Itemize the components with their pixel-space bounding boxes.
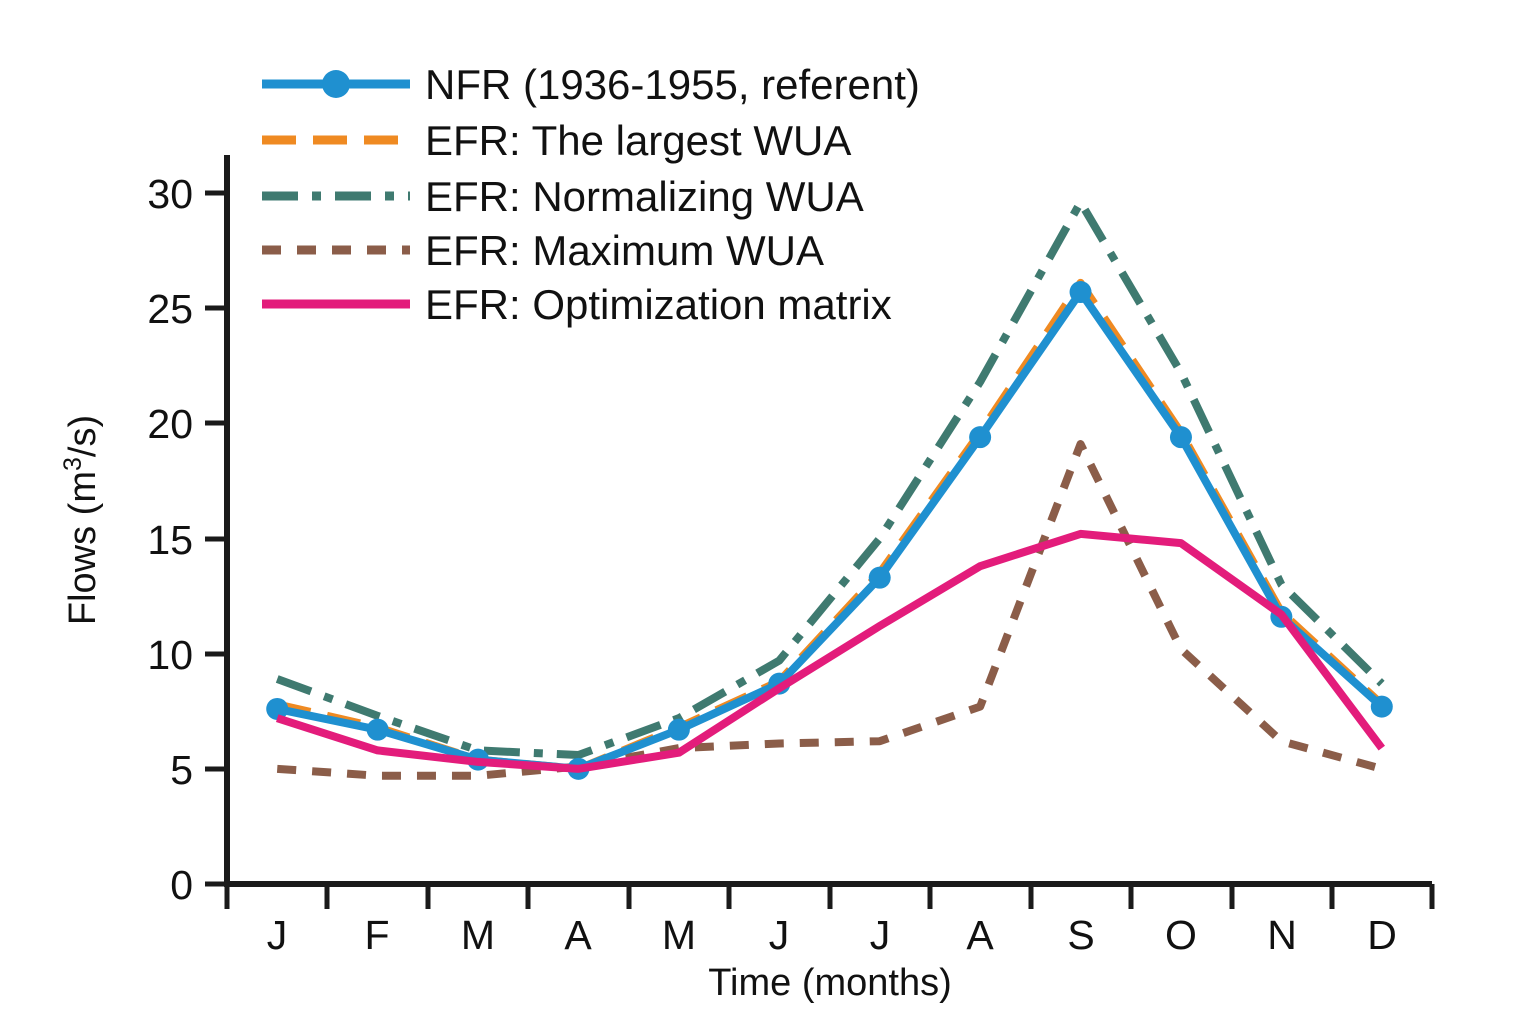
line-chart-svg: NFR (1936-1955, referent) EFR: The large… xyxy=(0,0,1528,1032)
legend-label-3: EFR: Maximum WUA xyxy=(425,227,824,274)
x-tick-label-apr: A xyxy=(564,912,592,958)
x-axis-ticks xyxy=(227,884,1432,909)
legend-item-2[interactable]: EFR: Normalizing WUA xyxy=(262,173,864,220)
legend-item-1[interactable]: EFR: The largest WUA xyxy=(262,117,851,164)
y-axis-title-main: Flows (m xyxy=(62,471,104,625)
x-tick-label-mar: M xyxy=(461,912,495,958)
y-tick-label-15: 15 xyxy=(147,517,193,563)
legend-item-3[interactable]: EFR: Maximum WUA xyxy=(262,227,824,274)
y-tick-label-25: 25 xyxy=(147,286,193,332)
series-0 xyxy=(266,281,1393,780)
legend-label-2: EFR: Normalizing WUA xyxy=(425,173,864,220)
series-marker xyxy=(969,426,991,448)
y-axis-title-superscript: 3 xyxy=(59,457,87,471)
x-axis-labels: J F M A M J J A S O N D xyxy=(267,912,1397,958)
y-axis-ticks xyxy=(205,193,227,884)
legend-label-4: EFR: Optimization matrix xyxy=(425,281,892,328)
x-tick-label-oct: O xyxy=(1165,912,1197,958)
series-line xyxy=(277,534,1382,769)
series-1 xyxy=(277,283,1382,769)
legend-item-0[interactable]: NFR (1936-1955, referent) xyxy=(262,61,920,108)
x-axis-title: Time (months) xyxy=(708,962,952,1004)
legend-marker-nfr xyxy=(322,70,350,98)
legend-label-1: EFR: The largest WUA xyxy=(425,117,851,164)
x-tick-label-dec: D xyxy=(1367,912,1397,958)
chart-figure: NFR (1936-1955, referent) EFR: The large… xyxy=(0,0,1528,1032)
y-tick-label-20: 20 xyxy=(147,401,193,447)
x-tick-label-jul: J xyxy=(870,912,891,958)
x-tick-label-jan: J xyxy=(267,912,288,958)
legend-item-4[interactable]: EFR: Optimization matrix xyxy=(262,281,892,328)
y-tick-label-5: 5 xyxy=(170,747,193,793)
y-tick-label-10: 10 xyxy=(147,632,193,678)
series-marker xyxy=(869,567,891,589)
chart-legend: NFR (1936-1955, referent) EFR: The large… xyxy=(262,61,920,328)
series-4 xyxy=(277,534,1382,769)
series-marker xyxy=(1070,281,1092,303)
y-axis-labels: 30 25 20 15 10 5 0 xyxy=(147,171,193,908)
x-tick-label-may: M xyxy=(662,912,696,958)
svg-text:Flows (m3/s): Flows (m3/s) xyxy=(59,415,104,625)
x-tick-label-feb: F xyxy=(364,912,389,958)
series-marker xyxy=(367,719,389,741)
x-tick-label-jun: J xyxy=(769,912,790,958)
y-axis-title: Flows (m3/s) xyxy=(59,415,104,625)
series-line xyxy=(277,283,1382,769)
series-marker xyxy=(1170,426,1192,448)
y-tick-label-0: 0 xyxy=(170,862,193,908)
y-tick-label-30: 30 xyxy=(147,171,193,217)
legend-label-0: NFR (1936-1955, referent) xyxy=(425,61,920,108)
series-marker xyxy=(1371,696,1393,718)
series-line xyxy=(277,292,1382,769)
x-tick-label-sep: S xyxy=(1067,912,1094,958)
x-tick-label-aug: A xyxy=(966,912,994,958)
y-axis-title-tail: /s) xyxy=(62,415,104,457)
series-marker xyxy=(668,719,690,741)
x-tick-label-nov: N xyxy=(1267,912,1297,958)
